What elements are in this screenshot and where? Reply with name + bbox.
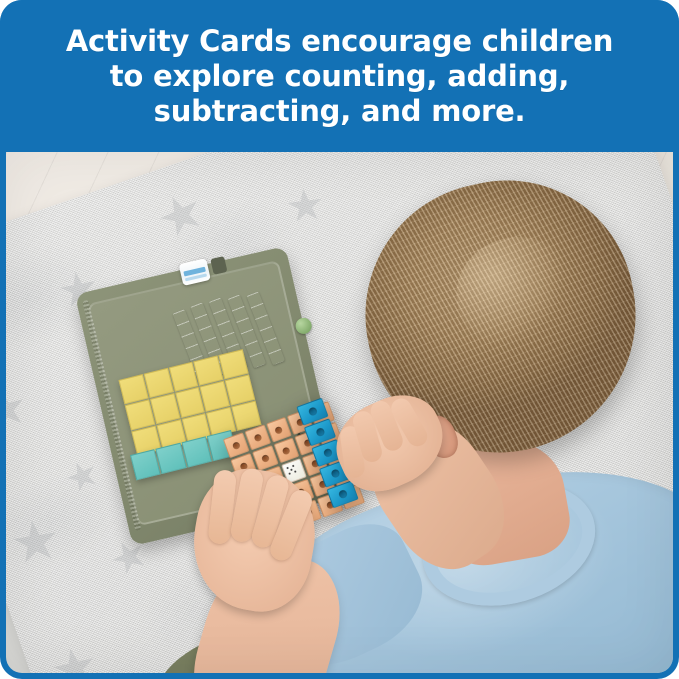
die-pip — [286, 467, 289, 470]
headline-text: Activity Cards encourage children to exp… — [30, 24, 650, 129]
headline-line-1: Activity Cards encourage children — [30, 24, 650, 59]
die-pip — [290, 469, 293, 472]
product-feature-card: Activity Cards encourage children to exp… — [0, 0, 679, 679]
die-pip — [292, 465, 295, 468]
die-pip — [294, 470, 297, 473]
die-pip — [288, 473, 291, 476]
photo-scene: ★★★★★★★★★★★★ 25 — [6, 152, 673, 673]
headline-banner: Activity Cards encourage children to exp… — [0, 0, 679, 152]
headline-line-3: subtracting, and more. — [30, 94, 650, 129]
rug-star-icon: ★ — [6, 512, 64, 573]
rug-star-icon: ★ — [282, 177, 328, 235]
product-photo: ★★★★★★★★★★★★ 25 — [6, 152, 673, 673]
tray-clip — [210, 256, 227, 275]
headline-line-2: to explore counting, adding, — [30, 59, 650, 94]
